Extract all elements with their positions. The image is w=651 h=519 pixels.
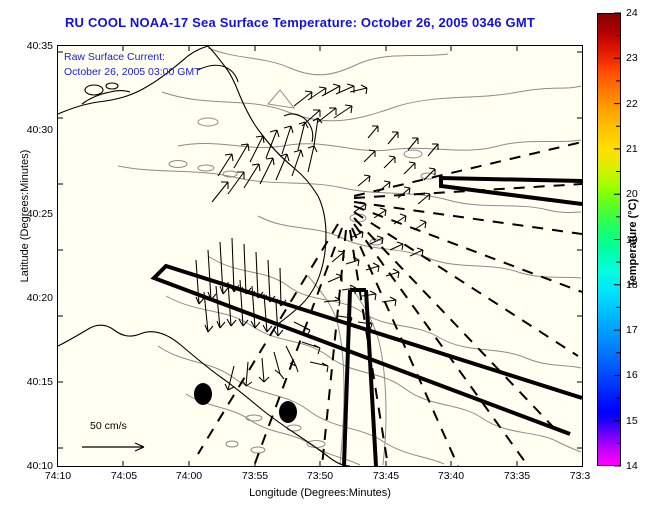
- cbtick-24: 24: [626, 7, 638, 19]
- cbtick-22: 22: [626, 98, 638, 110]
- cbtick-17: 17: [626, 324, 638, 336]
- cbtick-14: 14: [626, 460, 638, 472]
- cbtick-16: 16: [626, 369, 638, 381]
- cbtick-23: 23: [626, 52, 638, 64]
- cbtick-21: 21: [626, 143, 638, 155]
- sst-map-figure: RU COOL NOAA-17 Sea Surface Temperature:…: [0, 0, 651, 519]
- colorbar-ticks: [0, 0, 651, 519]
- colorbar-label: Temperature (°C): [627, 163, 639, 323]
- cbtick-15: 15: [626, 415, 638, 427]
